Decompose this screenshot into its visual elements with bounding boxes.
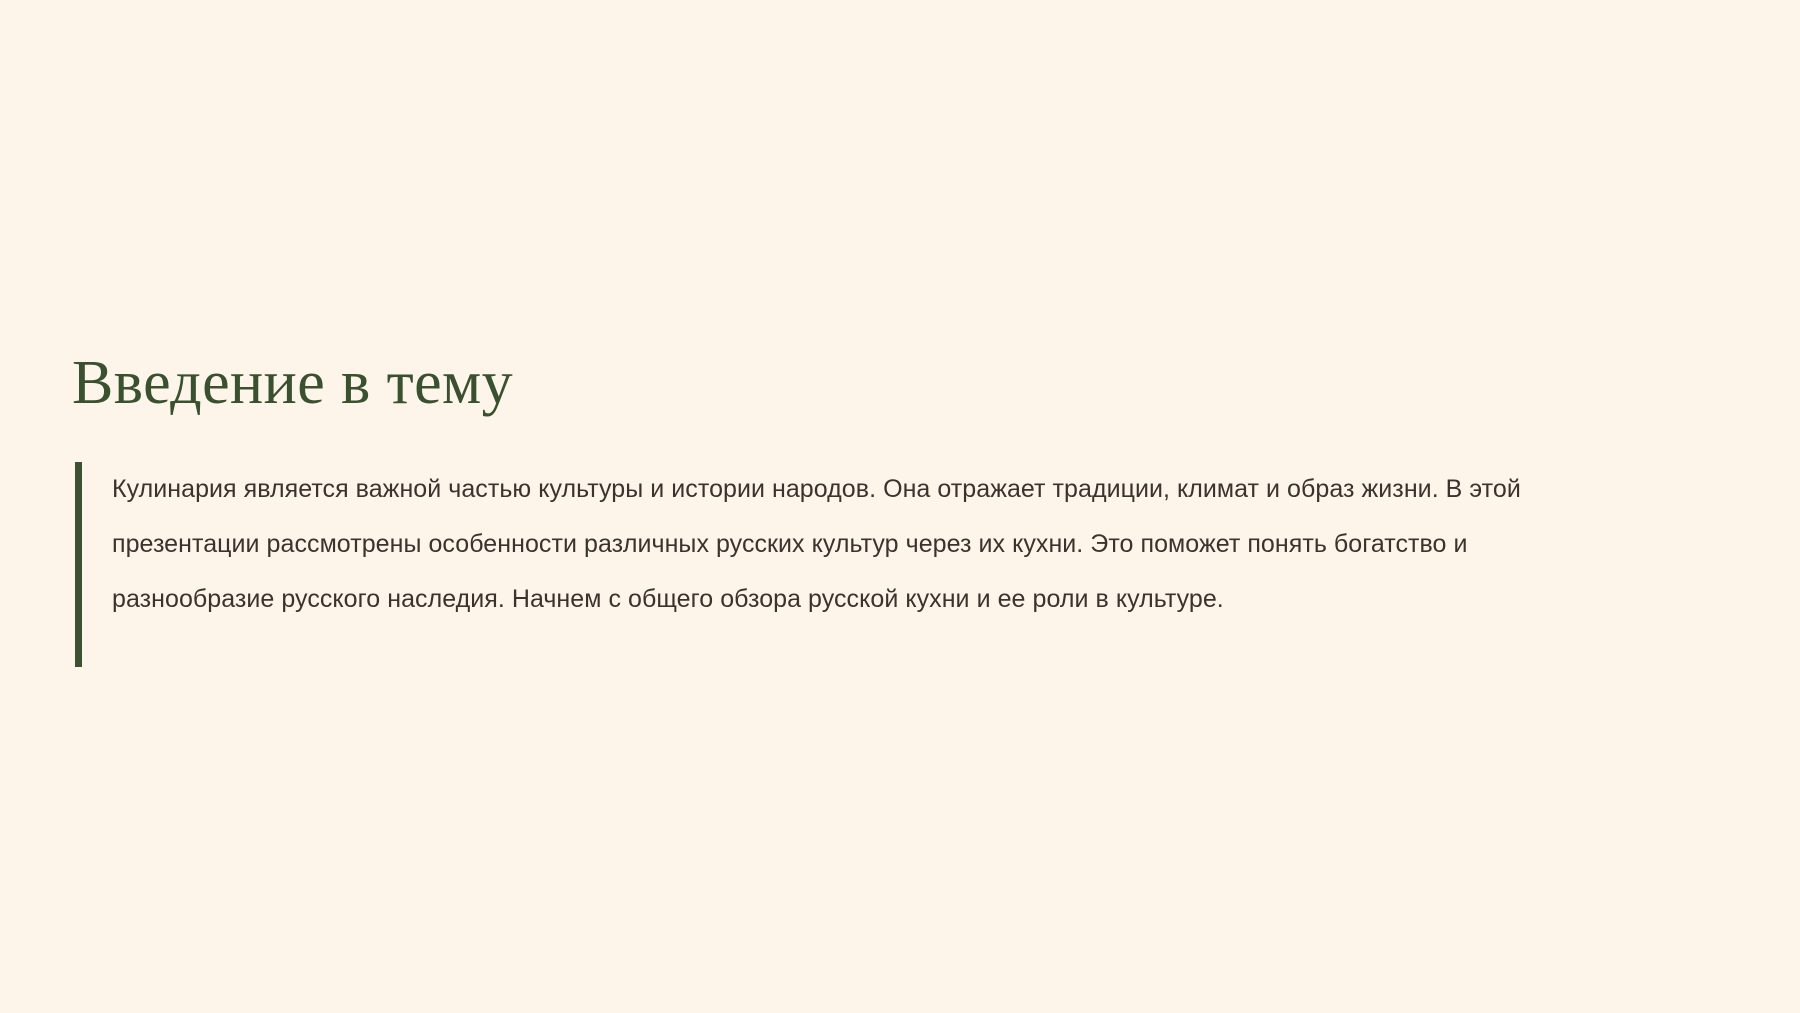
presentation-slide: Введение в тему Кулинария является важно… [0,0,1800,1013]
body-paragraph: Кулинария является важной частью культур… [112,462,1532,627]
body-text-block: Кулинария является важной частью культур… [72,462,1532,627]
page-title: Введение в тему [72,352,1732,414]
slide-content: Введение в тему Кулинария является важно… [72,352,1732,627]
accent-bar [75,462,82,667]
